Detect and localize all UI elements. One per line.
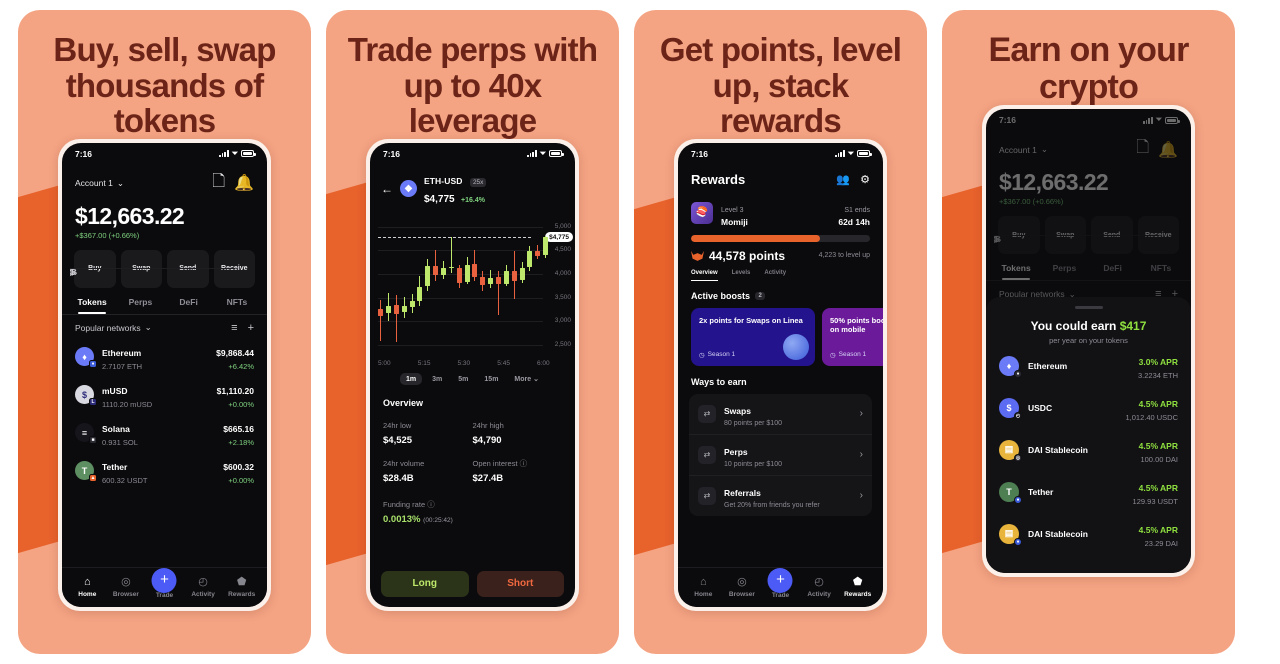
phone-screen: 7:16 ⏷ Account 1 ⌄ 🗋 🔔 $12,663.22 +$367.… xyxy=(986,109,1191,573)
perps-pair: ETH-USD xyxy=(424,176,462,186)
stat-value: $28.4B xyxy=(383,473,473,484)
season-label: S1 ends xyxy=(844,207,870,214)
level-label: Level 3 xyxy=(721,207,744,214)
token-change: +0.00% xyxy=(217,400,254,409)
apr-value: 4.5% APR xyxy=(1139,441,1178,451)
token-avatar: ▤ ♦ xyxy=(999,524,1019,544)
long-button[interactable]: Long xyxy=(381,571,469,597)
token-name: USDC xyxy=(1028,403,1052,413)
token-change: +0.00% xyxy=(223,476,254,485)
apr-row[interactable]: ▤ ♦ DAI Stablecoin 4.5% APR 23.29 DAI xyxy=(986,513,1191,555)
chevron-down-icon: ⌄ xyxy=(117,178,124,189)
nav-trade[interactable]: + Trade xyxy=(145,575,184,599)
token-avatar: T ▲ xyxy=(75,461,94,480)
way-name: Perps xyxy=(724,447,748,457)
y-tick: 4,500 xyxy=(555,246,571,253)
token-avatar: ♦ ♦ xyxy=(999,356,1019,376)
home-icon: ⌂ xyxy=(68,577,107,588)
gear-icon[interactable]: ⚙ xyxy=(860,173,870,186)
network-badge-icon: ♦ xyxy=(1014,370,1022,378)
funding-value: 0.0013% (00:25:42) xyxy=(383,514,562,525)
tab-label: Perps xyxy=(129,297,153,307)
boost-card[interactable]: 2x points for Swaps on Linea ◷ Season 1 xyxy=(691,308,815,366)
swap-icon: ⇄ xyxy=(698,405,716,423)
funding-rate: Funding rate ⓘ 0.0013% (00:25:42) xyxy=(370,484,575,525)
funding-timer: (00:25:42) xyxy=(423,517,453,524)
nav-label: Browser xyxy=(723,591,762,598)
token-name: Ethereum xyxy=(1028,361,1067,371)
overview-title: Overview xyxy=(370,386,575,408)
network-filter[interactable]: Popular networks ⌄ xyxy=(75,322,152,333)
x-tick: 5:45 xyxy=(497,360,510,367)
home-icon: ⌂ xyxy=(684,577,723,588)
receive-icon: ↙ xyxy=(70,268,235,269)
token-row[interactable]: T ▲ Tether 600.32 USDT $600.32 +0.00% xyxy=(62,452,267,490)
promo-headline: Trade perps with up to 40x leverage xyxy=(326,10,619,139)
boost-title: 50% points boost for swaps on mobile xyxy=(830,316,883,335)
boost-art-icon xyxy=(783,334,809,360)
token-avatar: ♦ ♦ xyxy=(75,347,94,366)
price-pill: $4,775 xyxy=(545,232,573,242)
earn-amount: $417 xyxy=(1120,319,1147,333)
network-filter-label: Popular networks xyxy=(75,323,141,333)
page-title: Rewards xyxy=(691,172,745,187)
way-name: Swaps xyxy=(724,406,751,416)
subtab-overview[interactable]: Overview xyxy=(691,270,718,281)
stats-row-2: 24hr volume $28.4BOpen interest ⓘ $27.4B xyxy=(370,446,575,484)
network-badge-icon: ■ xyxy=(89,436,97,444)
nav-label: Activity xyxy=(184,591,223,598)
timeframe-3m[interactable]: 3m xyxy=(426,373,448,385)
rewards-header: Rewards 👥 ⚙ xyxy=(678,165,883,191)
status-time: 7:16 xyxy=(75,149,92,159)
funding-key: Funding rate ⓘ xyxy=(383,500,435,509)
apr-row[interactable]: T ● Tether 4.5% APR 129.93 USDT xyxy=(986,471,1191,513)
rewards-subtabs: OverviewLevelsActivity xyxy=(678,263,883,281)
wallet-balance: $12,663.22 xyxy=(62,199,267,230)
token-balance: 100.00 DAI xyxy=(1139,455,1178,464)
level-name: Momiji xyxy=(721,217,748,227)
stat-key: 24hr low xyxy=(383,421,411,430)
tab-nfts[interactable]: NFTs xyxy=(213,297,261,314)
points-row: 44,578 points 4,223 to level up xyxy=(678,242,883,263)
account-row[interactable]: Account 1 ⌄ 🗋 🔔 xyxy=(986,131,1191,165)
points-total: 44,578 points xyxy=(709,249,785,263)
perps-header: ← ◆ ETH-USD 25x $4,775 +16.4% xyxy=(370,165,575,211)
way-desc: 10 points per $100 xyxy=(724,461,852,468)
token-balance: 3.2234 ETH xyxy=(1138,371,1178,380)
tab-tokens[interactable]: Tokens xyxy=(68,297,116,314)
activity-icon: ◴ xyxy=(184,577,223,588)
y-tick: 4,000 xyxy=(555,270,571,277)
x-tick: 6:00 xyxy=(537,360,550,367)
tab-perps[interactable]: Perps xyxy=(116,297,164,314)
wallet-tabs: Tokens Perps DeFi NFTs xyxy=(62,288,267,314)
eth-icon: ◆ xyxy=(400,180,417,197)
token-avatar: T ● xyxy=(999,482,1019,502)
trade-fab-icon[interactable]: + xyxy=(768,568,793,593)
quick-actions: $ Buy ⇅ Swap ▷ Send ↙ Receive xyxy=(62,240,267,288)
phone-screen: 7:16 ⏷ ← ◆ ETH-USD 25x $4,775 +16.4% 5,0… xyxy=(370,143,575,607)
x-tick: 5:00 xyxy=(378,360,391,367)
tab-label: Tokens xyxy=(78,297,107,307)
ways-to-earn-list: ⇄ Swaps 80 points per $100 › ⇄ Perps 10 … xyxy=(689,394,872,516)
network-badge-icon: ▲ xyxy=(89,474,97,482)
network-badge-icon: ♦ xyxy=(1014,538,1022,546)
network-badge-icon: ◴ xyxy=(1014,412,1022,420)
token-row[interactable]: ♦ ♦ Ethereum 2.7107 ETH $9,868.44 +6.42% xyxy=(62,338,267,376)
signal-icon xyxy=(1143,117,1152,124)
boosts-count: 2 xyxy=(755,292,765,300)
chevron-down-icon: ⌄ xyxy=(1041,144,1048,155)
boost-title: 2x points for Swaps on Linea xyxy=(699,316,807,325)
account-label: Account 1 xyxy=(999,145,1037,155)
nav-activity[interactable]: ◴ Activity xyxy=(800,577,839,598)
y-tick: 3,000 xyxy=(555,317,571,324)
filter-icon[interactable]: ≡ xyxy=(231,322,237,334)
chevron-down-icon: ⌄ xyxy=(145,322,152,333)
stat-value: $4,790 xyxy=(473,435,563,446)
tab-label: DeFi xyxy=(179,297,197,307)
season-value: 62d 14h xyxy=(838,217,870,227)
battery-icon xyxy=(241,150,254,157)
clock-icon: ◷ xyxy=(830,351,836,359)
perps-change: +16.4% xyxy=(461,197,485,204)
nav-trade[interactable]: + Trade xyxy=(761,575,800,599)
earn-sheet: You could earn $417 per year on your tok… xyxy=(986,297,1191,573)
nav-label: Home xyxy=(68,591,107,598)
stat-value: $27.4B xyxy=(473,473,563,484)
battery-icon xyxy=(857,150,870,157)
chevron-right-icon: › xyxy=(860,408,863,419)
nav-label: Browser xyxy=(107,591,146,598)
apr-row[interactable]: ▤ ◎ DAI Stablecoin 4.5% APR 100.00 DAI xyxy=(986,429,1191,471)
x-tick: 5:15 xyxy=(418,360,431,367)
add-friend-icon[interactable]: 👥 xyxy=(836,173,850,186)
nav-label: Trade xyxy=(761,592,800,599)
timeframe-5m[interactable]: 5m xyxy=(452,373,474,385)
network-filter-row: Popular networks ⌄ ≡ + xyxy=(62,315,267,338)
boost-season: Season 1 xyxy=(708,351,735,358)
receive-icon: ↙ xyxy=(994,235,1159,236)
phone-mockup: 7:16 ⏷ ← ◆ ETH-USD 25x $4,775 +16.4% 5,0… xyxy=(366,139,579,611)
network-badge-icon: ♦ xyxy=(89,360,97,368)
earn-title: You could earn $417 xyxy=(986,319,1191,333)
bell-icon[interactable]: 🔔 xyxy=(234,173,254,193)
boost-season: Season 1 xyxy=(839,351,866,358)
token-value: $665.16 xyxy=(223,424,254,434)
tab-nfts[interactable]: NFTs xyxy=(1137,263,1185,280)
back-arrow-icon[interactable]: ← xyxy=(381,182,393,196)
phone-mockup: 7:16 ⏷ Account 1 ⌄ 🗋 🔔 $12,663.22 +$367.… xyxy=(58,139,271,611)
nav-browser[interactable]: ◎ Browser xyxy=(107,577,146,598)
promo-card-4: Earn on your crypto 7:16 ⏷ Account 1 ⌄ 🗋… xyxy=(942,10,1235,654)
stats-row-1: 24hr low $4,52524hr high $4,790 xyxy=(370,408,575,446)
points-to-level-up: 4,223 to level up xyxy=(819,252,870,259)
wallet-delta: +$367.00 (+0.66%) xyxy=(986,196,1191,206)
browser-icon: ◎ xyxy=(723,577,762,588)
level-row: 🍣 Level 3 Momiji S1 ends 62d 14h xyxy=(678,191,883,227)
stat-key: Open interest ⓘ xyxy=(473,459,528,468)
tab-label: NFTs xyxy=(227,297,248,307)
account-selector[interactable]: Account 1 ⌄ xyxy=(75,178,124,189)
tab-label: DeFi xyxy=(1103,263,1121,273)
phone-mockup: 7:16 ⏷ Account 1 ⌄ 🗋 🔔 $12,663.22 +$367.… xyxy=(982,105,1195,577)
wallet-balance: $12,663.22 xyxy=(986,165,1191,196)
y-tick: 3,500 xyxy=(555,294,571,301)
boost-card[interactable]: 50% points boost for swaps on mobile ◷ S… xyxy=(822,308,883,366)
phone-screen: 7:16 ⏷ Rewards 👥 ⚙ 🍣 Level 3 Momiji S1 e… xyxy=(678,143,883,607)
wallet-delta: +$367.00 (+0.66%) xyxy=(62,230,267,240)
way-row[interactable]: ⇄ Referrals Get 20% from friends you ref… xyxy=(689,476,872,516)
y-tick: 2,500 xyxy=(555,341,571,348)
status-time: 7:16 xyxy=(691,149,708,159)
nav-browser[interactable]: ◎ Browser xyxy=(723,577,762,598)
promo-headline: Get points, level up, stack rewards xyxy=(634,10,927,139)
copy-icon[interactable]: 🗋 xyxy=(212,170,225,197)
token-change: +6.42% xyxy=(216,362,254,371)
y-tick: 5,000 xyxy=(555,223,571,230)
signal-icon xyxy=(527,150,536,157)
boosts-carousel[interactable]: 2x points for Swaps on Linea ◷ Season 1 … xyxy=(678,301,883,366)
network-badge-icon: ◎ xyxy=(1014,454,1022,462)
timeframe-row: 1m3m5m15mMore ⌄ xyxy=(370,367,575,386)
nav-label: Activity xyxy=(800,591,839,598)
add-token-icon[interactable]: + xyxy=(248,322,254,334)
nav-home[interactable]: ⌂ Home xyxy=(68,577,107,598)
nav-rewards[interactable]: ⬟ Rewards xyxy=(838,577,877,598)
quick-actions: $ Buy ⇅ Swap ▷ Send ↙ Receive xyxy=(986,206,1191,254)
price-chart: 5,0004,5004,0003,5003,0002,500$4,775 xyxy=(370,215,575,367)
battery-icon xyxy=(1165,117,1178,124)
way-desc: 80 points per $100 xyxy=(724,420,852,427)
way-row[interactable]: ⇄ Perps 10 points per $100 › xyxy=(689,435,872,476)
token-row[interactable]: $ L mUSD 1110.20 mUSD $1,110.20 +0.00% xyxy=(62,376,267,414)
chevron-right-icon: › xyxy=(860,490,863,501)
leverage-badge: 25x xyxy=(470,178,486,187)
browser-icon: ◎ xyxy=(107,577,146,588)
token-name: Solana xyxy=(102,424,130,434)
wifi-icon: ⏷ xyxy=(232,149,238,159)
timeframe-1m[interactable]: 1m xyxy=(400,373,422,385)
active-boosts-title: Active boosts 2 xyxy=(678,281,883,301)
apr-value: 4.5% APR xyxy=(1139,525,1178,535)
wifi-icon: ⏷ xyxy=(848,149,854,159)
timeframe-15m[interactable]: 15m xyxy=(478,373,504,385)
way-name: Referrals xyxy=(724,488,761,498)
token-amount: 2.7107 ETH xyxy=(102,362,208,371)
sheet-grabber[interactable] xyxy=(1075,306,1103,309)
way-desc: Get 20% from friends you refer xyxy=(724,502,852,509)
token-name: Tether xyxy=(102,462,127,472)
x-tick: 5:30 xyxy=(458,360,471,367)
token-amount: 0.931 SOL xyxy=(102,438,215,447)
nav-rewards[interactable]: ⬟ Rewards xyxy=(222,577,261,598)
promo-card-1: Buy, sell, swap thousands of tokens 7:16… xyxy=(18,10,311,654)
token-name: DAI Stablecoin xyxy=(1028,529,1088,539)
action-receive[interactable]: ↙ Receive xyxy=(214,250,256,288)
promo-card-2: Trade perps with up to 40x leverage 7:16… xyxy=(326,10,619,654)
short-button[interactable]: Short xyxy=(477,571,565,597)
token-name: DAI Stablecoin xyxy=(1028,445,1088,455)
account-row[interactable]: Account 1 ⌄ 🗋 🔔 xyxy=(62,165,267,199)
nav-label: Home xyxy=(684,591,723,598)
perps-price: $4,775 xyxy=(424,194,455,205)
nav-label: Trade xyxy=(145,592,184,599)
token-value: $1,110.20 xyxy=(217,386,254,396)
stat-value: $4,525 xyxy=(383,435,473,446)
token-value: $9,868.44 xyxy=(216,348,254,358)
network-badge-icon: L xyxy=(89,398,97,406)
account-selector[interactable]: Account 1 ⌄ xyxy=(999,144,1048,155)
token-name: mUSD xyxy=(102,386,128,396)
copy-icon[interactable]: 🗋 xyxy=(1136,136,1149,163)
network-badge-icon: ● xyxy=(1014,496,1022,504)
promo-gallery: Buy, sell, swap thousands of tokens 7:16… xyxy=(0,0,1280,664)
nav-label: Rewards xyxy=(838,591,877,598)
ways-to-earn-title: Ways to earn xyxy=(678,366,883,387)
stat-key: 24hr high xyxy=(473,421,504,430)
token-balance: 129.93 USDT xyxy=(1133,497,1178,506)
token-change: +2.18% xyxy=(223,438,254,447)
phone-screen: 7:16 ⏷ Account 1 ⌄ 🗋 🔔 $12,663.22 +$367.… xyxy=(62,143,267,607)
token-name: Tether xyxy=(1028,487,1053,497)
subtab-activity[interactable]: Activity xyxy=(764,270,786,281)
status-time: 7:16 xyxy=(383,149,400,159)
promo-headline: Earn on your crypto xyxy=(942,10,1235,105)
status-bar: 7:16 ⏷ xyxy=(678,143,883,165)
trade-buttons: Long Short xyxy=(370,571,575,597)
action-receive[interactable]: ↙ Receive xyxy=(1138,216,1180,254)
clock-icon: ◷ xyxy=(699,351,705,359)
section-label: Active boosts xyxy=(691,291,750,301)
phone-mockup: 7:16 ⏷ Rewards 👥 ⚙ 🍣 Level 3 Momiji S1 e… xyxy=(674,139,887,611)
bottom-nav: ⌂ Home ◎ Browser + Trade ◴ Activity ⬟ Re… xyxy=(62,567,267,607)
apr-row[interactable]: $ ◴ USDC 4.5% APR 1,012.40 USDC xyxy=(986,387,1191,429)
token-row[interactable]: ≡ ■ Solana 0.931 SOL $665.16 +2.18% xyxy=(62,414,267,452)
apr-value: 4.5% APR xyxy=(1139,483,1178,493)
level-progress-bar xyxy=(691,235,870,242)
token-avatar: $ ◴ xyxy=(999,398,1019,418)
tab-tokens[interactable]: Tokens xyxy=(992,263,1040,280)
promo-headline: Buy, sell, swap thousands of tokens xyxy=(18,10,311,139)
signal-icon xyxy=(219,150,228,157)
bottom-nav: ⌂ Home ◎ Browser + Trade ◴ Activity ⬟ Re… xyxy=(678,567,883,607)
perps-icon: ⇄ xyxy=(698,446,716,464)
signal-icon xyxy=(835,150,844,157)
status-bar: 7:16 ⏷ xyxy=(370,143,575,165)
tab-defi[interactable]: DeFi xyxy=(165,297,213,314)
tab-perps[interactable]: Perps xyxy=(1040,263,1088,280)
token-amount: 600.32 USDT xyxy=(102,476,215,485)
nav-home[interactable]: ⌂ Home xyxy=(684,577,723,598)
token-amount: 1110.20 mUSD xyxy=(102,400,209,409)
nav-activity[interactable]: ◴ Activity xyxy=(184,577,223,598)
apr-value: 3.0% APR xyxy=(1139,357,1178,367)
way-row[interactable]: ⇄ Swaps 80 points per $100 › xyxy=(689,394,872,435)
token-value: $600.32 xyxy=(223,462,254,472)
fox-icon xyxy=(691,251,704,261)
status-bar: 7:16 ⏷ xyxy=(62,143,267,165)
wifi-icon: ⏷ xyxy=(540,149,546,159)
apr-value: 4.5% APR xyxy=(1139,399,1178,409)
wifi-icon: ⏷ xyxy=(1156,115,1162,125)
tab-label: NFTs xyxy=(1151,263,1172,273)
tab-label: Tokens xyxy=(1002,263,1031,273)
earn-subtitle: per year on your tokens xyxy=(986,336,1191,345)
apr-row[interactable]: ♦ ♦ Ethereum 3.0% APR 3.2234 ETH xyxy=(986,345,1191,387)
token-avatar: ≡ ■ xyxy=(75,423,94,442)
battery-icon xyxy=(549,150,562,157)
token-avatar: $ L xyxy=(75,385,94,404)
avatar: 🍣 xyxy=(691,202,713,224)
timeframe-More[interactable]: More ⌄ xyxy=(508,373,545,386)
tab-defi[interactable]: DeFi xyxy=(1089,263,1137,280)
promo-card-3: Get points, level up, stack rewards 7:16… xyxy=(634,10,927,654)
bell-icon[interactable]: 🔔 xyxy=(1158,140,1178,160)
status-time: 7:16 xyxy=(999,115,1016,125)
activity-icon: ◴ xyxy=(800,577,839,588)
referral-icon: ⇄ xyxy=(698,487,716,505)
chevron-right-icon: › xyxy=(860,449,863,460)
status-bar: 7:16 ⏷ xyxy=(986,109,1191,131)
nav-label: Rewards xyxy=(222,591,261,598)
token-balance: 1,012.40 USDC xyxy=(1125,413,1178,422)
subtab-levels[interactable]: Levels xyxy=(732,270,751,281)
rewards-icon: ⬟ xyxy=(838,577,877,588)
trade-fab-icon[interactable]: + xyxy=(152,568,177,593)
token-name: Ethereum xyxy=(102,348,141,358)
account-label: Account 1 xyxy=(75,178,113,188)
wallet-tabs: Tokens Perps DeFi NFTs xyxy=(986,254,1191,280)
stat-key: 24hr volume xyxy=(383,459,424,468)
token-balance: 23.29 DAI xyxy=(1139,539,1178,548)
tab-label: Perps xyxy=(1053,263,1077,273)
rewards-icon: ⬟ xyxy=(222,577,261,588)
token-avatar: ▤ ◎ xyxy=(999,440,1019,460)
